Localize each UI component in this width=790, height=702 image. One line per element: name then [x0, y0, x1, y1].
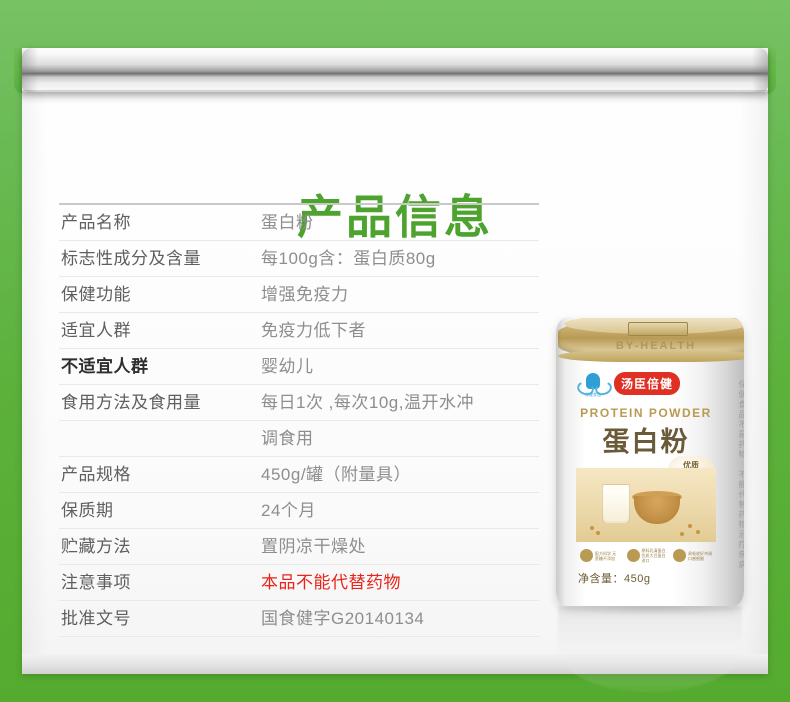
- spec-label: 保健功能: [59, 277, 261, 312]
- spec-value: 每100g含：蛋白质80g: [261, 241, 539, 276]
- can-reflection: [558, 606, 742, 692]
- spec-value: 国食健字G20140134: [261, 601, 539, 636]
- spec-value: 婴幼儿: [261, 349, 539, 384]
- spec-value: 置阴凉干燥处: [261, 529, 539, 564]
- badge-circle-icon: [673, 549, 686, 562]
- spec-label: 产品名称: [59, 205, 261, 240]
- spec-row: 产品规格450g/罐（附量具）: [59, 457, 539, 493]
- can-product-photo: [576, 468, 716, 542]
- spec-label: 标志性成分及含量: [59, 241, 261, 276]
- product-english-name: PROTEIN POWDER: [576, 406, 716, 420]
- spec-label: 不适宜人群: [59, 349, 261, 384]
- health-food-logo-label: 保健食品: [578, 392, 608, 398]
- product-spec-table: 产品名称蛋白粉标志性成分及含量每100g含：蛋白质80g保健功能增强免疫力适宜人…: [59, 203, 539, 637]
- badge-text: 易吸收好冲调 口感细腻: [688, 551, 712, 561]
- net-weight-label: 净含量：450g: [578, 570, 650, 586]
- can-side-warning-text: 保健食品不是药物，不能代替药物治疗疾病。: [722, 380, 744, 580]
- spec-label: [59, 421, 261, 434]
- spec-value: 蛋白粉: [261, 205, 539, 240]
- spec-row: 适宜人群免疫力低下者: [59, 313, 539, 349]
- spec-value: 免疫力低下者: [261, 313, 539, 348]
- spec-row: 产品名称蛋白粉: [59, 205, 539, 241]
- spec-value: 450g/罐（附量具）: [261, 457, 539, 492]
- can-feature-badge: 原料乳清蛋白 优质大豆蛋白进口: [627, 548, 666, 563]
- spec-row: 保质期24个月: [59, 493, 539, 529]
- spec-value: 增强免疫力: [261, 277, 539, 312]
- can-label-face: 保健食品 汤臣倍健 PROTEIN POWDER 蛋白粉 优质 双蛋白: [576, 364, 716, 604]
- can-lid-tab: [628, 322, 688, 336]
- milk-glass-icon: [602, 484, 630, 524]
- product-info-page: 产品信息 产品名称蛋白粉标志性成分及含量每100g含：蛋白质80g保健功能增强免…: [0, 0, 790, 702]
- product-chinese-name: 蛋白粉: [576, 420, 716, 459]
- soybean-bowl-icon: [634, 496, 680, 524]
- can-feature-badges: 配方科学 无蔗糖不添加原料乳清蛋白 优质大豆蛋白进口易吸收好冲调 口感细腻: [580, 548, 712, 563]
- spec-label: 适宜人群: [59, 313, 261, 348]
- spec-row: 标志性成分及含量每100g含：蛋白质80g: [59, 241, 539, 277]
- spec-label: 食用方法及食用量: [59, 385, 261, 420]
- spec-value: 调食用: [261, 421, 539, 456]
- spec-row: 批准文号国食健字G20140134: [59, 601, 539, 637]
- health-food-logo-icon: 保健食品: [578, 370, 608, 400]
- product-can-image: BY-HEALTH 保健食品 汤臣倍健 PROTEIN POWDER 蛋白粉 优…: [550, 300, 750, 620]
- can-feature-badge: 配方科学 无蔗糖不添加: [580, 548, 619, 563]
- can-body: BY-HEALTH 保健食品 汤臣倍健 PROTEIN POWDER 蛋白粉 优…: [556, 318, 744, 606]
- can-feature-badge: 易吸收好冲调 口感细腻: [673, 548, 712, 563]
- spec-label: 批准文号: [59, 601, 261, 636]
- spec-value: 每日1次 ,每次10g,温开水冲: [261, 385, 539, 420]
- spec-row: 调食用: [59, 421, 539, 457]
- spec-label: 保质期: [59, 493, 261, 528]
- spec-row: 贮藏方法置阴凉干燥处: [59, 529, 539, 565]
- can-gold-band: [558, 350, 744, 362]
- spec-label: 注意事项: [59, 565, 261, 600]
- spec-row: 保健功能增强免疫力: [59, 277, 539, 313]
- spec-value: 24个月: [261, 493, 539, 528]
- badge-text: 原料乳清蛋白 优质大豆蛋白进口: [642, 548, 666, 563]
- brand-badge: 汤臣倍健: [614, 372, 680, 395]
- spec-label: 产品规格: [59, 457, 261, 492]
- badge-circle-icon: [580, 549, 593, 562]
- badge-circle-icon: [627, 549, 640, 562]
- spec-row: 注意事项本品不能代替药物: [59, 565, 539, 601]
- spec-label: 贮藏方法: [59, 529, 261, 564]
- spec-value: 本品不能代替药物: [261, 565, 539, 600]
- spec-row: 不适宜人群婴幼儿: [59, 349, 539, 385]
- badge-text: 配方科学 无蔗糖不添加: [595, 551, 619, 561]
- spec-row: 食用方法及食用量每日1次 ,每次10g,温开水冲: [59, 385, 539, 421]
